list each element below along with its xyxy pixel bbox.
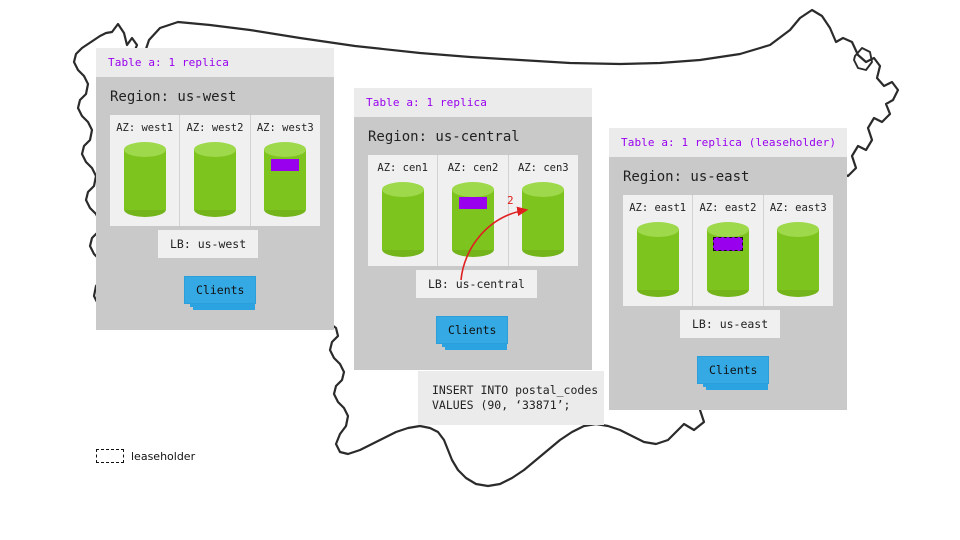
load-balancer-us-east[interactable]: LB: us-east bbox=[680, 310, 780, 338]
table-replica-header-us-central: Table a: 1 replica bbox=[354, 88, 592, 117]
dashed-rect-leaseholder-swatch bbox=[96, 449, 124, 463]
legend: leaseholder bbox=[96, 449, 195, 463]
region-title-us-central: Region: us-central bbox=[354, 117, 592, 155]
clients-button-us-east[interactable]: Clients bbox=[697, 356, 769, 384]
node-cylinder-east3[interactable] bbox=[777, 222, 819, 297]
node-cylinder-east2[interactable] bbox=[707, 222, 749, 297]
node-cylinder-east1[interactable] bbox=[637, 222, 679, 297]
az-cell-east2[interactable]: AZ: east2 bbox=[693, 195, 763, 306]
cylinder-body bbox=[382, 189, 424, 250]
replica-marker-west3 bbox=[271, 159, 299, 171]
cylinder-top bbox=[637, 222, 679, 237]
az-cell-east1[interactable]: AZ: east1 bbox=[623, 195, 693, 306]
clients-button-us-central[interactable]: Clients bbox=[436, 316, 508, 344]
cylinder-body bbox=[194, 149, 236, 210]
node-cylinder-west2[interactable] bbox=[194, 142, 236, 217]
node-cylinder-cen1[interactable] bbox=[382, 182, 424, 257]
az-label-cen3: AZ: cen3 bbox=[518, 162, 569, 174]
cylinder-top bbox=[124, 142, 166, 157]
leaseholder-marker-east2 bbox=[713, 237, 743, 251]
sql-statement-box: INSERT INTO postal_codes VALUES (90, ‘33… bbox=[418, 371, 604, 425]
az-label-west2: AZ: west2 bbox=[187, 122, 244, 134]
az-cell-west1[interactable]: AZ: west1 bbox=[110, 115, 180, 226]
diagram-canvas: Table a: 1 replica Region: us-west AZ: w… bbox=[0, 0, 960, 540]
region-panel-us-east: Table a: 1 replica (leaseholder) Region:… bbox=[609, 128, 847, 410]
region-title-us-east: Region: us-east bbox=[609, 157, 847, 195]
az-label-west3: AZ: west3 bbox=[257, 122, 314, 134]
table-replica-header-us-west: Table a: 1 replica bbox=[96, 48, 334, 77]
az-label-cen1: AZ: cen1 bbox=[377, 162, 428, 174]
cylinder-top bbox=[707, 222, 749, 237]
cylinder-body bbox=[124, 149, 166, 210]
region-title-us-west: Region: us-west bbox=[96, 77, 334, 115]
cylinder-body bbox=[777, 229, 819, 290]
az-label-east3: AZ: east3 bbox=[770, 202, 827, 214]
node-cylinder-west1[interactable] bbox=[124, 142, 166, 217]
az-label-west1: AZ: west1 bbox=[116, 122, 173, 134]
cylinder-top bbox=[194, 142, 236, 157]
az-label-cen2: AZ: cen2 bbox=[448, 162, 499, 174]
az-strip-us-east: AZ: east1 AZ: east2 bbox=[623, 195, 833, 306]
az-cell-cen1[interactable]: AZ: cen1 bbox=[368, 155, 438, 266]
az-cell-west3[interactable]: AZ: west3 bbox=[251, 115, 320, 226]
table-replica-header-us-east: Table a: 1 replica (leaseholder) bbox=[609, 128, 847, 157]
az-strip-us-west: AZ: west1 AZ: west2 bbox=[110, 115, 320, 226]
node-cylinder-west3[interactable] bbox=[264, 142, 306, 217]
region-panel-us-west: Table a: 1 replica Region: us-west AZ: w… bbox=[96, 48, 334, 330]
clients-button-us-west[interactable]: Clients bbox=[184, 276, 256, 304]
az-label-east1: AZ: east1 bbox=[629, 202, 686, 214]
cylinder-body bbox=[637, 229, 679, 290]
replica-marker-cen2 bbox=[459, 197, 487, 209]
az-label-east2: AZ: east2 bbox=[700, 202, 757, 214]
arrow-step-label-2: 2 bbox=[507, 194, 514, 207]
az-cell-west2[interactable]: AZ: west2 bbox=[180, 115, 250, 226]
az-cell-east3[interactable]: AZ: east3 bbox=[764, 195, 833, 306]
load-balancer-us-west[interactable]: LB: us-west bbox=[158, 230, 258, 258]
legend-label-leaseholder: leaseholder bbox=[131, 450, 195, 463]
cylinder-top bbox=[382, 182, 424, 197]
